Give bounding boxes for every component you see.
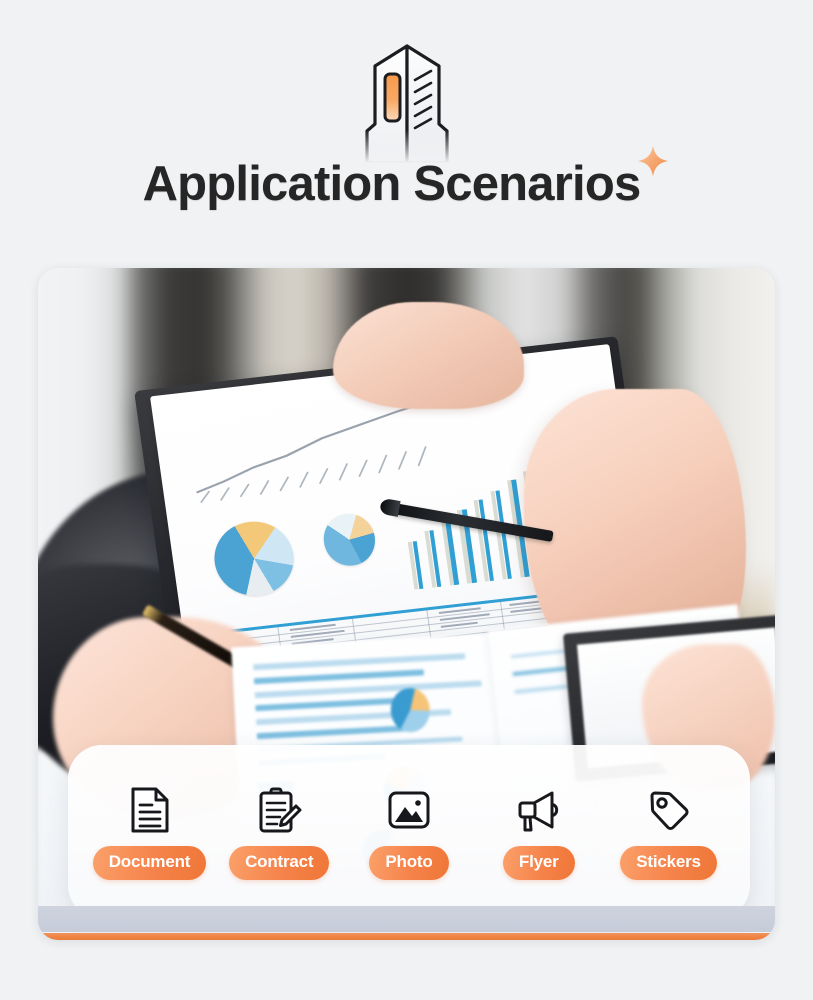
- scenario-photo: Document: [38, 268, 775, 940]
- megaphone-icon: [514, 784, 564, 836]
- scenario-photo-card: Document: [38, 268, 775, 940]
- scenario-item-photo[interactable]: Photo: [346, 784, 473, 879]
- scenario-label-panel: Document: [68, 745, 750, 919]
- image-icon: [385, 784, 433, 836]
- scenario-label-contract[interactable]: Contract: [229, 846, 329, 879]
- pie-chart-right: [320, 511, 378, 569]
- building-icon: [347, 38, 467, 163]
- scenario-label-photo[interactable]: Photo: [369, 846, 448, 879]
- application-scenarios-page: Application Scenarios: [0, 0, 813, 1000]
- scenario-item-stickers[interactable]: Stickers: [605, 784, 732, 879]
- scenario-label-document[interactable]: Document: [93, 846, 207, 879]
- document-icon: [128, 784, 172, 836]
- card-bottom-band: [38, 906, 775, 932]
- page-title-row: Application Scenarios: [0, 160, 813, 209]
- scenario-label-stickers[interactable]: Stickers: [620, 846, 717, 879]
- scenario-item-flyer[interactable]: Flyer: [475, 784, 602, 879]
- scenario-label-flyer[interactable]: Flyer: [503, 846, 575, 879]
- card-bottom-accent-rule: [38, 933, 775, 940]
- sparkle-icon: [636, 144, 670, 178]
- page-title: Application Scenarios: [143, 160, 641, 209]
- scenario-item-contract[interactable]: Contract: [216, 784, 343, 879]
- scenario-item-document[interactable]: Document: [86, 784, 213, 879]
- tag-icon: [645, 784, 693, 836]
- pie-chart-left: [210, 517, 298, 599]
- clipboard-pen-icon: [256, 784, 302, 836]
- header: Application Scenarios: [0, 0, 813, 258]
